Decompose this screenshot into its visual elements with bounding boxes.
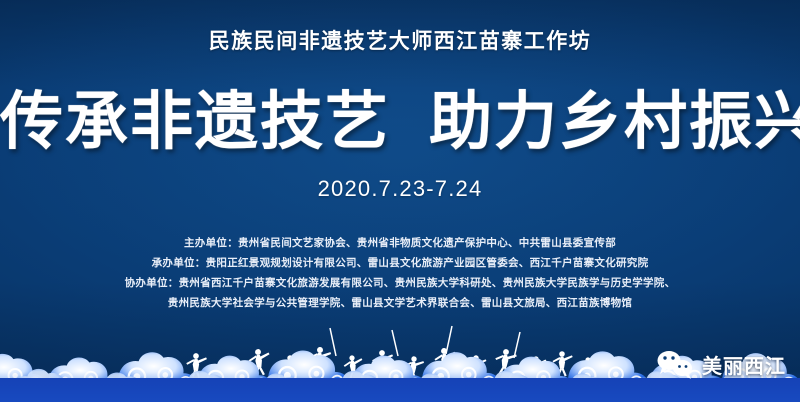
poster-headline: 传承非遗技艺 助力乡村振兴	[0, 84, 800, 160]
wechat-watermark: 美丽西江	[655, 348, 786, 380]
wechat-icon	[655, 348, 695, 380]
credits-line: 承办单位：贵阳正红景观规划设计有限公司、雷山县文化旅游产业园区管委会、西江千户苗…	[0, 253, 800, 273]
poster-subtitle: 民族民间非遗技艺大师西江苗寨工作坊	[0, 28, 800, 56]
credits-line: 贵州民族大学社会学与公共管理学院、雷山县文学艺术界联合会、雷山县文旅局、西江苗族…	[0, 293, 800, 313]
credits-line: 主办单位：贵州省民间文艺家协会、贵州省非物质文化遗产保护中心、中共雷山县委宣传部	[0, 233, 800, 253]
credits-line: 协办单位：贵州省西江千户苗寨文化旅游发展有限公司、贵州民族大学科研处、贵州民族大…	[0, 273, 800, 293]
poster-date: 2020.7.23-7.24	[0, 176, 800, 202]
poster-canvas: 民族民间非遗技艺大师西江苗寨工作坊 传承非遗技艺 助力乡村振兴 2020.7.2…	[0, 0, 800, 402]
wechat-account-name: 美丽西江	[702, 350, 786, 379]
credits-block: 主办单位：贵州省民间文艺家协会、贵州省非物质文化遗产保护中心、中共雷山县委宣传部…	[0, 233, 800, 313]
